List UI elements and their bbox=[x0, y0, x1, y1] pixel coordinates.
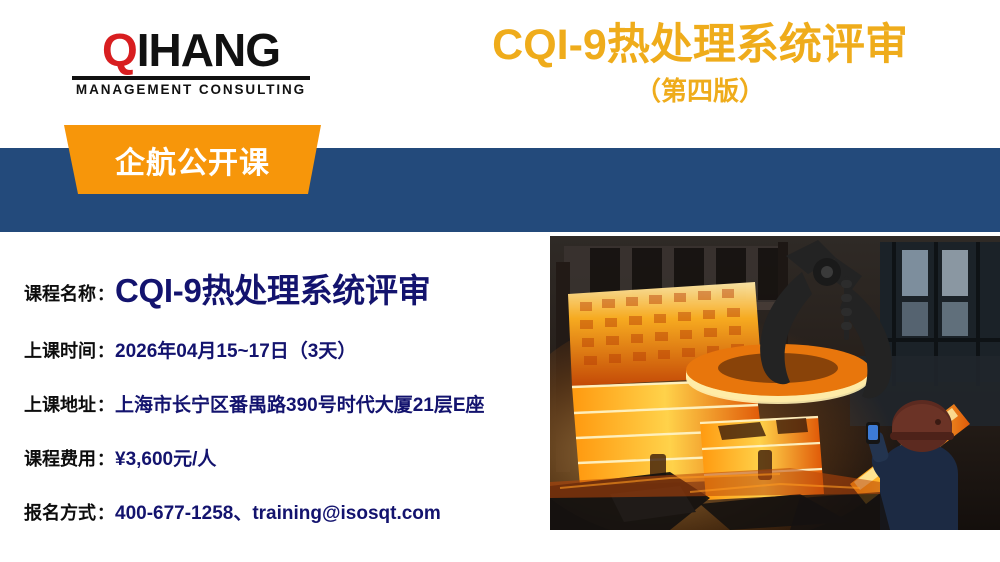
page-subtitle: （第四版） bbox=[400, 77, 1000, 106]
detail-row-date: 上课时间 ： 2026年04月15~17日（3天） bbox=[24, 336, 544, 363]
detail-value: ¥3,600元/人 bbox=[115, 444, 216, 471]
detail-label: 课程费用 bbox=[24, 445, 96, 471]
logo-letters-rest: IHANG bbox=[137, 24, 280, 76]
course-details: 课程名称 ： CQI-9热处理系统评审 上课时间 ： 2026年04月15~17… bbox=[24, 262, 544, 525]
logo-tagline: MANAGEMENT CONSULTING bbox=[72, 82, 310, 97]
detail-colon: ： bbox=[96, 499, 115, 524]
logo-wordmark: QIHANG bbox=[72, 27, 310, 73]
detail-row-address: 上课地址 ： 上海市长宁区番禺路390号时代大厦21层E座 bbox=[24, 390, 544, 417]
detail-label: 上课时间 bbox=[24, 337, 96, 363]
heat-treatment-photo bbox=[550, 236, 1000, 530]
detail-value: 400-677-1258、training@isosqt.com bbox=[115, 498, 441, 525]
open-course-badge-label: 企航公开课 bbox=[60, 125, 325, 194]
title-block: CQI-9热处理系统评审 （第四版） bbox=[400, 22, 1000, 106]
detail-value: CQI-9热处理系统评审 bbox=[115, 264, 430, 312]
logo-letter-q: Q bbox=[102, 24, 137, 76]
detail-row-course-name: 课程名称 ： CQI-9热处理系统评审 bbox=[24, 262, 544, 310]
open-course-badge: 企航公开课 bbox=[60, 125, 325, 194]
detail-colon: ： bbox=[96, 391, 115, 416]
detail-label: 报名方式 bbox=[24, 499, 96, 525]
detail-row-fee: 课程费用 ： ¥3,600元/人 bbox=[24, 444, 544, 471]
detail-label: 课程名称 bbox=[24, 280, 96, 306]
course-poster: QIHANG MANAGEMENT CONSULTING CQI-9热处理系统评… bbox=[0, 0, 1000, 562]
detail-colon: ： bbox=[96, 337, 115, 362]
logo-divider bbox=[72, 76, 310, 80]
detail-colon: ： bbox=[96, 280, 115, 305]
detail-value: 2026年04月15~17日（3天） bbox=[115, 336, 356, 363]
company-logo: QIHANG MANAGEMENT CONSULTING bbox=[72, 27, 310, 97]
detail-label: 上课地址 bbox=[24, 391, 96, 417]
detail-row-contact: 报名方式 ： 400-677-1258、training@isosqt.com bbox=[24, 498, 544, 525]
detail-value: 上海市长宁区番禺路390号时代大厦21层E座 bbox=[115, 390, 485, 417]
page-title: CQI-9热处理系统评审 bbox=[400, 22, 1000, 68]
detail-colon: ： bbox=[96, 445, 115, 470]
